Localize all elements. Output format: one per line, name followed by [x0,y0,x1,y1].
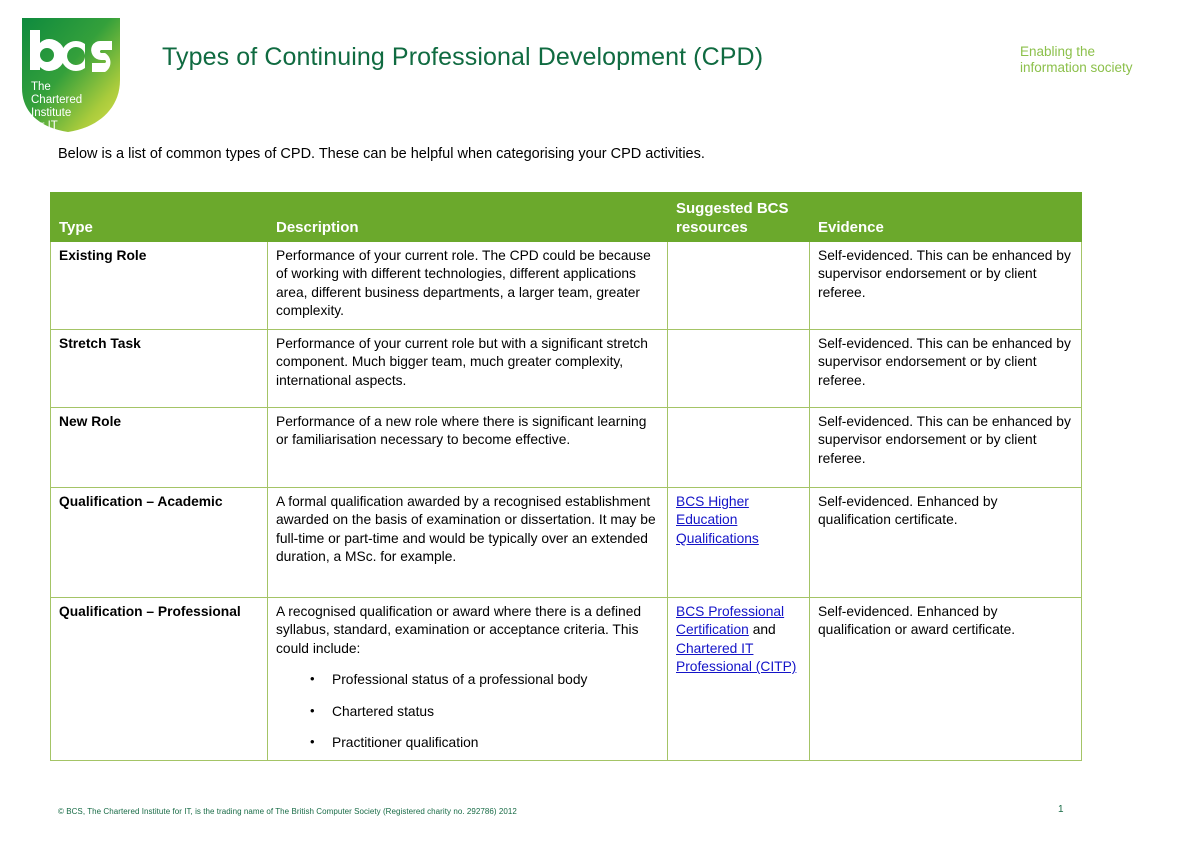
cell-resources: BCS Professional Certification and Chart… [668,598,810,761]
column-header-description: Description [268,193,668,242]
cpd-types-table-container: Type Description Suggested BCS resources… [50,192,1081,761]
cell-type: Stretch Task [51,330,268,408]
page-header: The Chartered Institute for IT Types of … [0,0,1200,136]
logo-line-the: The [31,81,51,93]
cell-evidence: Self-evidenced. Enhanced by qualificatio… [810,598,1082,761]
cell-resources: BCS Higher Education Qualifications [668,488,810,598]
tagline-line-1: Enabling the [1020,44,1133,60]
column-header-type: Type [51,193,268,242]
table-row: Existing Role Performance of your curren… [51,242,1082,330]
cell-evidence: Self-evidenced. Enhanced by qualificatio… [810,488,1082,598]
logo-line-forit: for IT [31,120,58,132]
brand-tagline: Enabling the information society [1020,44,1133,76]
bcs-shield-logo: The Chartered Institute for IT [22,18,120,132]
cell-resources [668,242,810,330]
cell-evidence: Self-evidenced. This can be enhanced by … [810,408,1082,488]
list-item: Practitioner qualification [332,734,660,752]
cell-description: Performance of your current role. The CP… [268,242,668,330]
footer-page-number: 1 [1058,804,1064,816]
page-title: Types of Continuing Professional Develop… [162,41,763,73]
list-item: Chartered status [332,703,660,721]
resources-conjunction: and [749,622,776,637]
description-bullet-list: Professional status of a professional bo… [276,671,660,752]
cell-type: New Role [51,408,268,488]
logo-line-chartered: Chartered [31,94,82,106]
cell-evidence: Self-evidenced. This can be enhanced by … [810,330,1082,408]
cell-description: A recognised qualification or award wher… [268,598,668,761]
cell-description: A formal qualification awarded by a reco… [268,488,668,598]
table-row: Qualification – Professional A recognise… [51,598,1082,761]
table-header-row: Type Description Suggested BCS resources… [51,193,1082,242]
column-header-evidence: Evidence [810,193,1082,242]
tagline-line-2: information society [1020,60,1133,76]
cell-type: Qualification – Professional [51,598,268,761]
cpd-types-table: Type Description Suggested BCS resources… [50,192,1082,761]
logo-line-institute: Institute [31,107,71,119]
link-bcs-higher-education-qualifications[interactable]: BCS Higher Education Qualifications [676,494,759,546]
link-chartered-it-professional-citp[interactable]: Chartered IT Professional (CITP) [676,641,796,674]
table-row: Stretch Task Performance of your current… [51,330,1082,408]
footer-copyright: © BCS, The Chartered Institute for IT, i… [58,806,517,817]
cell-type: Existing Role [51,242,268,330]
cell-resources [668,408,810,488]
cell-resources [668,330,810,408]
table-row: Qualification – Academic A formal qualif… [51,488,1082,598]
table-row: New Role Performance of a new role where… [51,408,1082,488]
intro-paragraph: Below is a list of common types of CPD. … [58,145,958,164]
cell-description: Performance of a new role where there is… [268,408,668,488]
cell-description: Performance of your current role but wit… [268,330,668,408]
list-item: Professional status of a professional bo… [332,671,660,689]
cell-description-text: A recognised qualification or award wher… [276,604,641,656]
cell-type: Qualification – Academic [51,488,268,598]
column-header-resources: Suggested BCS resources [668,193,810,242]
cell-evidence: Self-evidenced. This can be enhanced by … [810,242,1082,330]
